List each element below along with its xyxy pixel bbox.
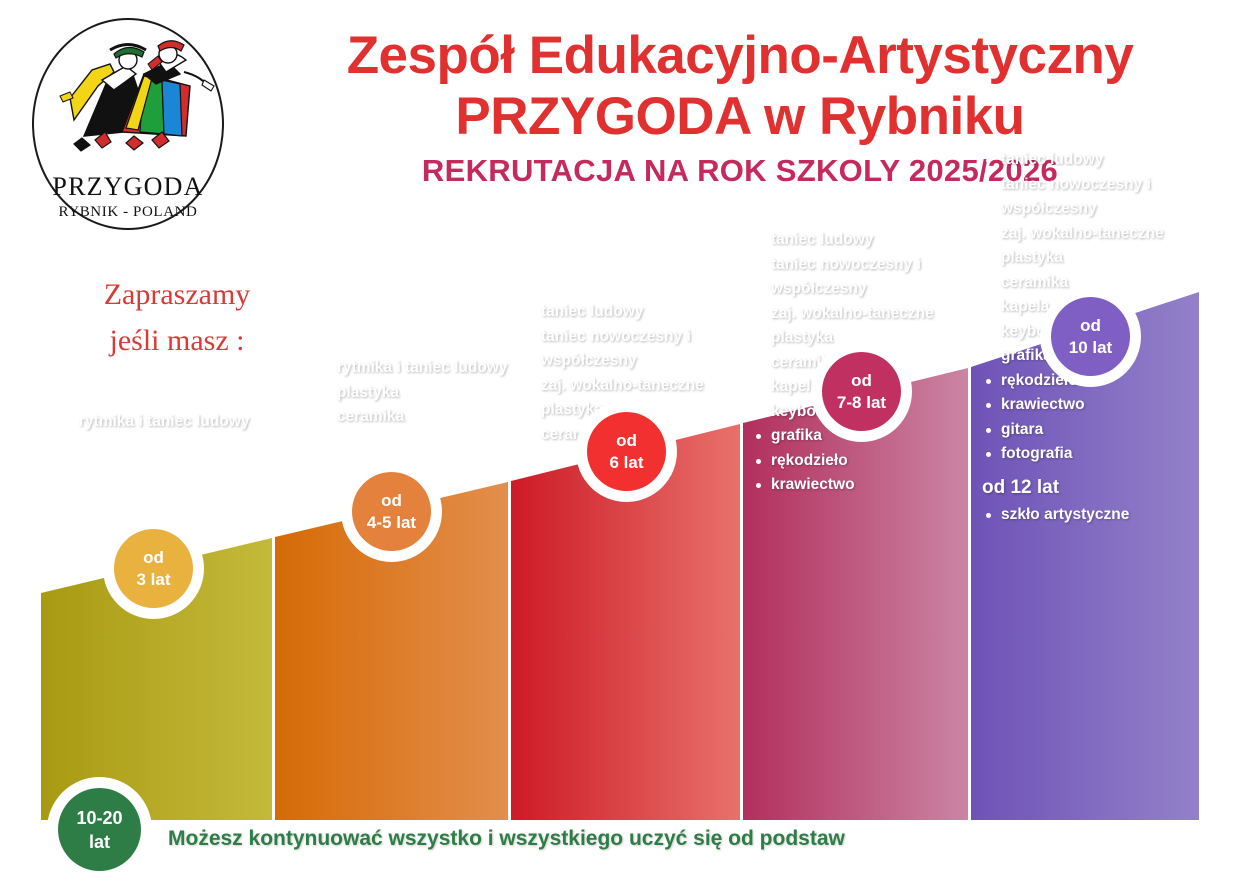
folk-dancers-icon: [40, 28, 216, 168]
age-badge-5: od 10 lat: [1051, 297, 1130, 376]
poster-title-line2: PRZYGODA w Rybniku: [250, 86, 1230, 148]
offer-item: rękodzieło: [771, 449, 987, 474]
offer-item: plastyka: [771, 326, 987, 351]
offer-list-2: rytmika i taniec ludowyplastykaceramika: [318, 356, 528, 430]
age-badge-2-line1: od: [381, 490, 402, 512]
offer-item: zaj. wokalno-taneczne: [1001, 222, 1230, 247]
age-badge-4: od 7-8 lat: [822, 352, 901, 431]
continuation-note: Możesz kontynuować wszystko i wszystkieg…: [168, 827, 1068, 851]
step-offer-list-2: rytmika i taniec ludowyplastykaceramika: [318, 356, 528, 430]
age-badge-1-line1: od: [143, 547, 164, 569]
age-badge-5-line2: 10 lat: [1069, 337, 1112, 359]
logo: PRZYGODA RYBNIK - POLAND: [18, 14, 238, 238]
offer-item: taniec ludowy: [541, 300, 752, 325]
step-offer-list-1: rytmika i taniec ludowy: [60, 410, 260, 435]
age-badge-3-line1: od: [616, 430, 637, 452]
offer-item: szkło artystyczne: [1001, 503, 1230, 528]
age-badge-3: od 6 lat: [587, 412, 666, 491]
offer-item: gitara: [1001, 418, 1230, 443]
offer-item: plastyka: [337, 381, 528, 406]
offer-list-5-extra: szkło artystyczne: [982, 503, 1230, 528]
age-badge-5-line1: od: [1080, 315, 1101, 337]
age-badge-continuation: 10-20 lat: [58, 788, 141, 871]
offer-item: rytmika i taniec ludowy: [79, 410, 260, 435]
offer-item: zaj. wokalno-taneczne: [771, 302, 987, 327]
age-badge-4-line2: 7-8 lat: [837, 392, 886, 414]
offer-item: krawiectwo: [1001, 393, 1230, 418]
logo-wordmark: PRZYGODA: [18, 172, 238, 202]
age-badge-2: od 4-5 lat: [352, 472, 431, 551]
offer-item: fotografia: [1001, 442, 1230, 467]
age-badge-2-line2: 4-5 lat: [367, 512, 416, 534]
offer-item: ceramika: [1001, 271, 1230, 296]
age-badge-4-line1: od: [851, 370, 872, 392]
offer-item: taniec ludowy: [771, 228, 987, 253]
offer-item: plastyka: [1001, 246, 1230, 271]
offer-list-1: rytmika i taniec ludowy: [60, 410, 260, 435]
offer-item: ceramika: [337, 405, 528, 430]
offer-item: rękodzieło: [1001, 369, 1230, 394]
extra-age-heading: od 12 lat: [982, 473, 1230, 503]
offer-item: taniec ludowy: [1001, 148, 1230, 173]
offer-item: taniec nowoczesny i współczesny: [541, 325, 752, 374]
continuation-badge-line1: 10-20: [76, 806, 122, 830]
offer-item: zaj. wokalno-taneczne: [541, 374, 752, 399]
offer-item: taniec nowoczesny i współczesny: [771, 253, 987, 302]
offer-item: rytmika i taniec ludowy: [337, 356, 528, 381]
age-badge-3-line2: 6 lat: [609, 452, 643, 474]
continuation-badge-line2: lat: [89, 830, 110, 854]
offer-item: grafika: [771, 424, 987, 449]
poster-title-line1: Zespół Edukacyjno-Artystyczny: [250, 26, 1230, 86]
logo-subtitle: RYBNIK - POLAND: [18, 204, 238, 221]
poster-canvas: PRZYGODA RYBNIK - POLAND Zespół Edukacyj…: [0, 0, 1250, 884]
age-badge-1-line2: 3 lat: [136, 569, 170, 591]
offer-item: taniec nowoczesny i współczesny: [1001, 173, 1230, 222]
age-badge-1: od 3 lat: [114, 529, 193, 608]
offer-item: krawiectwo: [771, 473, 987, 498]
